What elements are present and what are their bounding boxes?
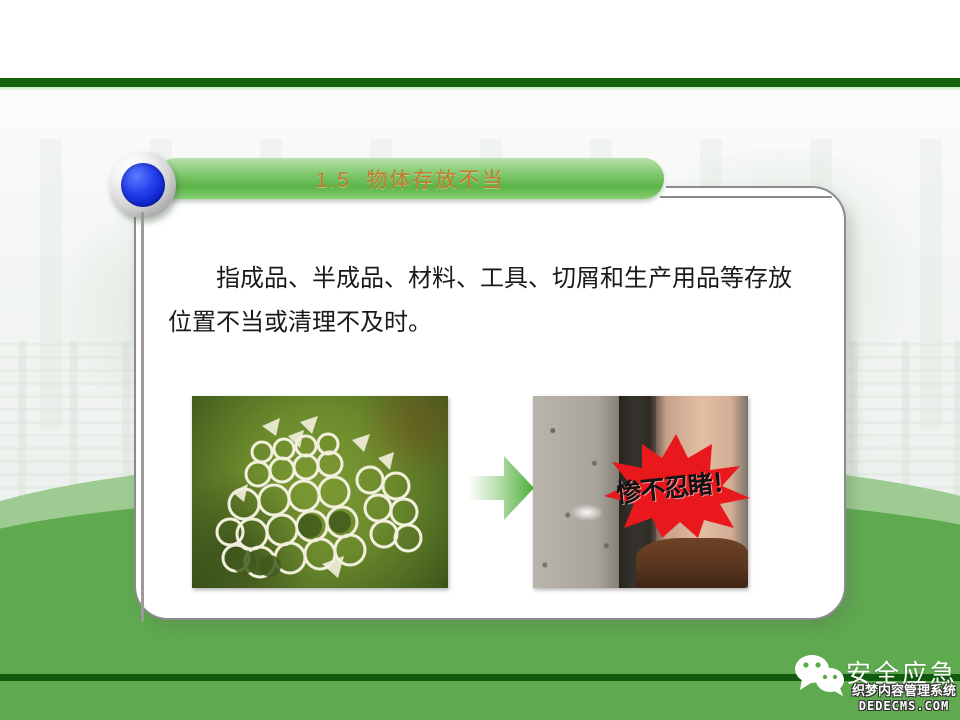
right-arrow-icon [466, 452, 536, 524]
bullet-sphere [110, 152, 176, 218]
site-watermark: 织梦内容管理系统 DEDECMS.COM [852, 684, 956, 714]
scattered-rings-graphic [192, 396, 448, 588]
body-line-2: 位置不当或清理不及时。 [168, 300, 828, 344]
bullet-stem-line [141, 212, 144, 622]
warning-starburst: 惨不忍睹！ [600, 432, 752, 540]
slide-canvas: 1.5 物体存放不当 指成品、半成品、材料、工具、切屑和生产用品等存放 位置不当… [0, 0, 960, 720]
transition-arrow [466, 452, 536, 524]
top-rule [0, 78, 960, 87]
body-paragraph: 指成品、半成品、材料、工具、切屑和生产用品等存放 位置不当或清理不及时。 [168, 256, 828, 344]
light-glint [570, 504, 604, 521]
shoe-shape [636, 538, 748, 588]
wechat-logo [792, 652, 848, 696]
body-line-1: 指成品、半成品、材料、工具、切屑和生产用品等存放 [168, 256, 828, 300]
title-connector-line [660, 196, 832, 198]
page-title: 1.5 物体存放不当 [316, 164, 505, 194]
left-photo [192, 396, 448, 588]
top-rule-glow [0, 87, 960, 91]
bullet-core-icon [121, 163, 165, 207]
watermark-line-1: 织梦内容管理系统 [852, 684, 956, 699]
watermark-line-2: DEDECMS.COM [852, 699, 956, 714]
top-white-band [0, 0, 960, 78]
section-title-pill: 1.5 物体存放不当 [156, 158, 664, 199]
wechat-icon [792, 652, 848, 696]
